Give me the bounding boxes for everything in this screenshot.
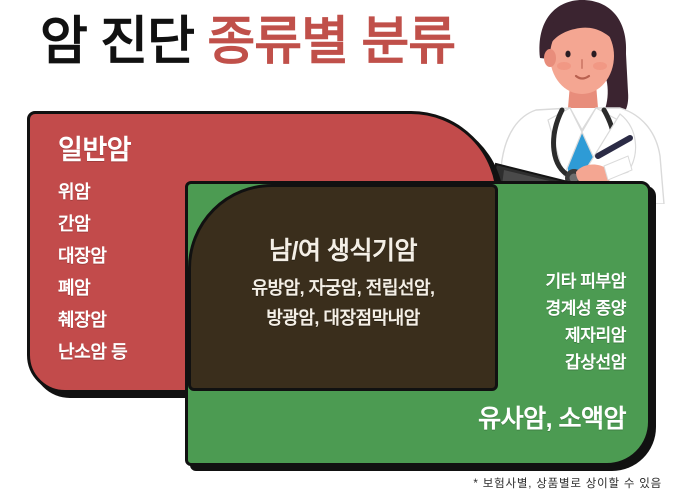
page-title: 암 진단 종류별 분류 — [40, 12, 455, 72]
list-item: 대장암 — [58, 240, 127, 272]
list-item: 갑상선암 — [545, 349, 626, 376]
page-title-black: 암 진단 — [40, 13, 194, 71]
list-item: 제자리암 — [545, 322, 626, 349]
panel-reproductive-cancer-list: 유방암, 자궁암, 전립선암, 방광암, 대장점막내암 — [191, 273, 495, 333]
panel-general-cancer-heading: 일반암 — [58, 128, 131, 167]
panel-minor-cancer-heading: 유사암, 소액암 — [478, 399, 626, 435]
list-item: 방광암, 대장점막내암 — [191, 303, 495, 333]
doctor-illustration — [478, 0, 680, 204]
panel-general-cancer-list: 위암 간암 대장암 폐암 췌장암 난소암 등 — [58, 176, 127, 368]
list-item: 유방암, 자궁암, 전립선암, — [191, 273, 495, 303]
panel-minor-cancer-list: 기타 피부암 경계성 종양 제자리암 갑상선암 — [545, 268, 626, 376]
list-item: 기타 피부암 — [545, 268, 626, 295]
list-item: 췌장암 — [58, 304, 127, 336]
list-item: 경계성 종양 — [545, 295, 626, 322]
footnote: * 보험사별, 상품별로 상이할 수 있음 — [473, 475, 662, 491]
panel-reproductive-cancer-heading: 남/여 생식기암 — [191, 231, 495, 267]
list-item: 폐암 — [58, 272, 127, 304]
list-item: 난소암 등 — [58, 336, 127, 368]
panel-reproductive-cancer[interactable]: 남/여 생식기암 유방암, 자궁암, 전립선암, 방광암, 대장점막내암 — [188, 184, 498, 391]
list-item: 위암 — [58, 176, 127, 208]
infographic-canvas: 암 진단 종류별 분류 — [0, 0, 680, 498]
page-title-red: 종류별 분류 — [207, 13, 455, 71]
list-item: 간암 — [58, 208, 127, 240]
